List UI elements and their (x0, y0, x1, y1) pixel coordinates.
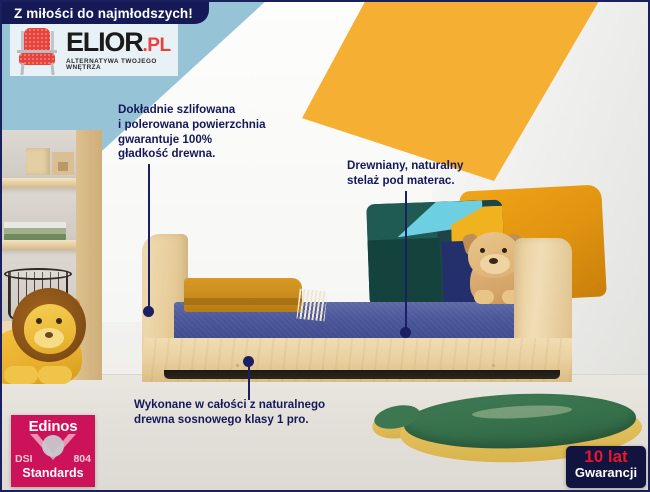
leader-dot-slats (400, 327, 411, 338)
chair-leg-left (20, 63, 24, 75)
edinos-name: Edinos (11, 418, 95, 435)
red-chair-icon (12, 26, 62, 74)
lion-eye-left (36, 318, 42, 324)
logo-name: ELIOR (66, 27, 143, 57)
shelf-box-b (52, 152, 74, 175)
product-infographic: Dokładnie szlifowana i polerowana powier… (0, 0, 650, 492)
warranty-years: 10 lat (566, 448, 646, 466)
top-banner-text: Z miłości do najmłodszych! (14, 6, 193, 21)
brand-logo[interactable]: ELIOR.PL ALTERNATYWA TWOJEGO WNĘTRZA (10, 24, 178, 76)
folded-blanket (184, 278, 302, 312)
lion-paw-right (38, 366, 72, 384)
callout-surface-text: Dokładnie szlifowana i polerowana powier… (118, 103, 266, 162)
bed-under-shadow (164, 370, 560, 379)
puppy-eye-left (480, 248, 485, 253)
logo-text-block: ELIOR.PL ALTERNATYWA TWOJEGO WNĘTRZA (66, 29, 178, 72)
shelf-box-a (26, 148, 50, 175)
logo-tagline: ALTERNATYWA TWOJEGO WNĘTRZA (66, 59, 178, 72)
leader-dot-surface (143, 306, 154, 317)
edinos-standards-label: Standards (11, 466, 95, 480)
top-banner: Z miłości do najmłodszych! (2, 2, 209, 24)
lion-snout (34, 328, 64, 348)
wire-basket-rim (4, 268, 72, 280)
warranty-badge: 10 lat Gwarancji (566, 446, 646, 488)
chair-leg-right (50, 63, 54, 75)
callout-material-text: Wykonane w całości z naturalnego drewna … (134, 398, 325, 428)
puppy-muzzle (480, 254, 510, 274)
logo-tld: .PL (143, 35, 171, 56)
warranty-label: Gwarancji (566, 466, 646, 480)
leader-dot-material (243, 356, 254, 367)
leader-line-surface (148, 164, 150, 312)
shelf-board-lower (0, 240, 80, 249)
edinos-code-right: 804 (73, 453, 91, 465)
logo-wordmark: ELIOR.PL (66, 29, 178, 56)
edinos-badge: Edinos DSI 804 Standards (11, 415, 95, 487)
blanket-fold-line (184, 298, 302, 305)
blanket-fringe (297, 289, 328, 322)
puppy-paw-left (474, 290, 494, 304)
puppy-nose (489, 258, 498, 264)
lion-nose (45, 332, 53, 338)
bed-screw-right (492, 364, 495, 367)
edinos-code-left: DSI (15, 453, 33, 465)
leader-line-slats (405, 191, 407, 332)
callout-slats-text: Drewniany, naturalny stelaż pod materac. (347, 159, 463, 189)
shelf-board-upper (0, 178, 80, 187)
edinos-circle (42, 435, 64, 457)
puppy-eye-right (502, 248, 507, 253)
lion-eye-right (56, 318, 62, 324)
bed-screw-left (236, 364, 239, 367)
lion-paw-left (4, 366, 38, 384)
